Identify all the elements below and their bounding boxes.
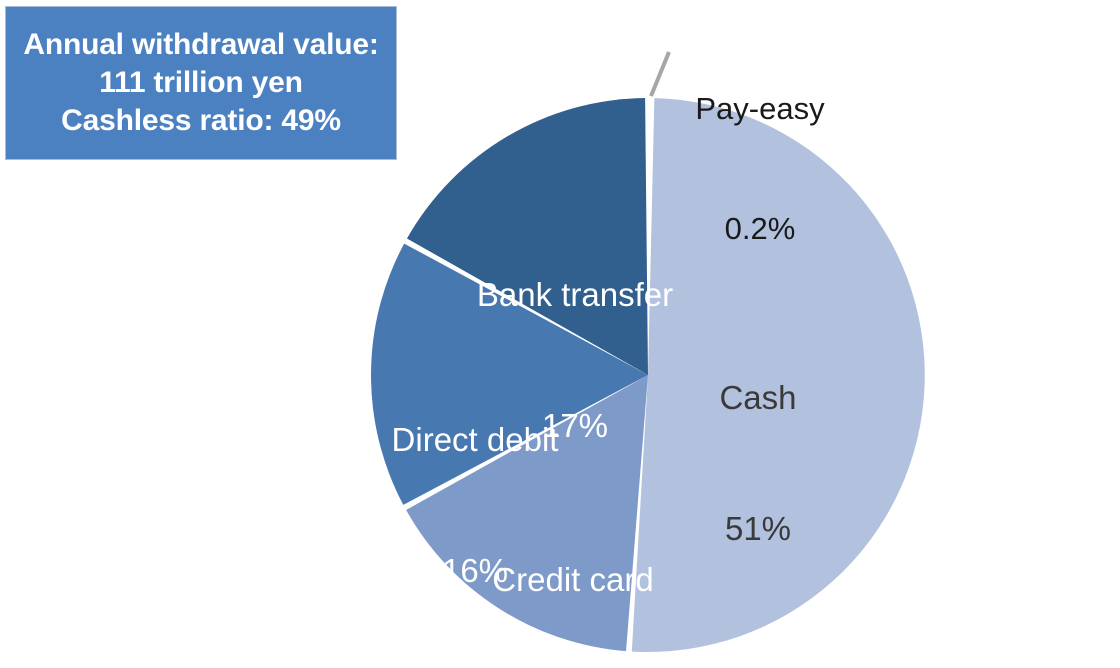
slice-label-pay-easy-name: Pay-easy xyxy=(630,89,890,129)
slice-label-pay-easy: Pay-easy 0.2% xyxy=(630,8,890,330)
chart-canvas: Annual withdrawal value: 111 trillion ye… xyxy=(0,0,1120,668)
pie-chart xyxy=(0,0,1120,668)
slice-label-pay-easy-percent: 0.2% xyxy=(630,209,890,249)
